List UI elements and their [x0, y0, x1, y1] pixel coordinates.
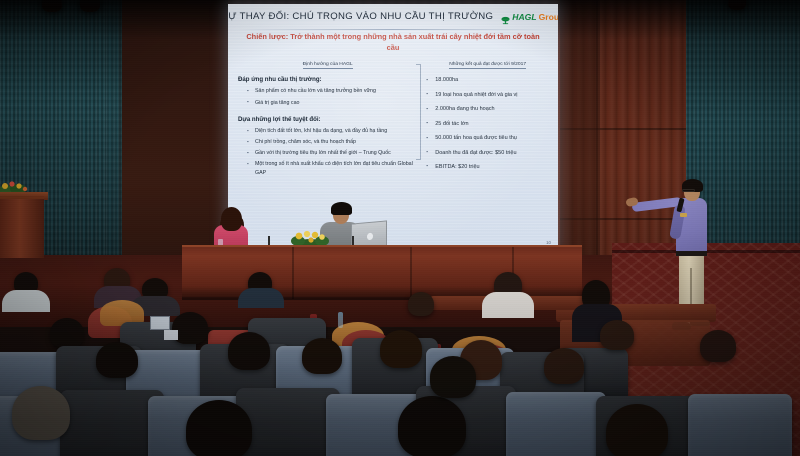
slide-strategy-line: Chiến lược: Trở thành một trong những nh… [242, 32, 544, 53]
auditorium-seat [236, 388, 340, 456]
laptop-logo [367, 233, 373, 241]
list-item: Gần với thị trường tiêu thụ lớn nhất thế… [246, 149, 419, 158]
audience-head [606, 404, 668, 456]
audience-head [50, 318, 84, 348]
list-item: 50.000 tấn hoa quả được tiêu thụ [425, 134, 550, 143]
audience-shoulders [482, 292, 534, 318]
list-item: Diện tích đất tốt lớn, khí hậu đa dạng, … [246, 127, 419, 136]
water-bottle [338, 312, 343, 328]
conference-photo: SỰ THAY ĐỔI: CHÚ TRỌNG VÀO NHU CẦU THỊ T… [0, 0, 800, 456]
list-item: Doanh thu đã đạt được: $50 triệu [425, 149, 550, 158]
title-divider [238, 29, 548, 30]
hagl-logo-name: HAGL [512, 12, 536, 22]
tablet-screen [150, 316, 170, 330]
podium [0, 196, 44, 258]
auditorium-seat [688, 394, 792, 456]
left-block-list-1: Sản phẩm có nhu cầu lớn và tăng trưởng b… [246, 87, 419, 107]
audience-head [228, 332, 270, 370]
left-column-bracket [416, 64, 421, 159]
audience-head [12, 386, 70, 440]
audience-head [96, 342, 138, 378]
hagl-logo-suffix: Group [539, 12, 558, 22]
list-item: 19 loại hoa quả nhiệt đới và gia vị [425, 91, 550, 100]
list-item: Giá trị gia tăng cao [246, 99, 419, 108]
slide-title: SỰ THAY ĐỔI: CHÚ TRỌNG VÀO NHU CẦU THỊ T… [228, 11, 493, 22]
list-item: Chi phí trồng, chăm sóc, và thu hoạch th… [246, 138, 419, 147]
tree-icon [501, 12, 510, 21]
right-column-list: 18.000ha 19 loại hoa quả nhiệt đới và gi… [425, 76, 550, 171]
panelist-man-hair [331, 202, 352, 215]
list-item: Một trong số ít nhà xuất khẩu có diện tí… [246, 160, 419, 177]
list-item: EBITDA: $20 triệu [425, 163, 550, 172]
hagl-group-logo: HAGL Group [501, 12, 558, 22]
audience-head [380, 330, 422, 368]
left-block-list-2: Diện tích đất tốt lớn, khí hậu đa dạng, … [246, 127, 419, 177]
left-column-header: Định hướng của HAGL [303, 62, 353, 69]
presenter-belt [676, 251, 707, 256]
audience-shoulders [238, 288, 284, 308]
list-item: Sản phẩm có nhu cầu lớn và tăng trưởng b… [246, 87, 419, 96]
audience-head [398, 396, 466, 456]
audience-head [430, 356, 476, 398]
audience-head [302, 338, 342, 374]
glasses-icon [682, 189, 695, 192]
slide-right-column: Những kết quả đạt được tới 9/2017 18.000… [425, 62, 550, 185]
slide-columns: Định hướng của HAGL Đáp ứng nhu cầu thị … [228, 62, 558, 185]
list-item: 18.000ha [425, 76, 550, 85]
auditorium-seat [506, 392, 606, 456]
left-block-title-2: Dựa những lợi thế tuyệt đối: [238, 116, 419, 123]
left-block-title-1: Đáp ứng nhu cầu thị trường: [238, 76, 419, 83]
slide-header: SỰ THAY ĐỔI: CHÚ TRỌNG VÀO NHU CẦU THỊ T… [228, 4, 558, 26]
audience-head [544, 348, 584, 384]
list-item: 25 đối tác lớn [425, 120, 550, 129]
audience-head [186, 400, 252, 456]
phone-screen [164, 330, 178, 340]
slide-left-column: Định hướng của HAGL Đáp ứng nhu cầu thị … [236, 62, 419, 185]
audience-head [700, 330, 736, 362]
audience-head [408, 292, 434, 316]
audience-head [600, 320, 634, 350]
panelist-woman-hair [221, 207, 242, 231]
list-item: 2.000ha đang thu hoạch [425, 105, 550, 114]
audience-shoulders [2, 290, 50, 312]
presenter-watch [680, 213, 687, 217]
projected-slide: SỰ THAY ĐỔI: CHÚ TRỌNG VÀO NHU CẦU THỊ T… [228, 4, 558, 249]
right-column-header: Những kết quả đạt được tới 9/2017 [449, 62, 526, 69]
